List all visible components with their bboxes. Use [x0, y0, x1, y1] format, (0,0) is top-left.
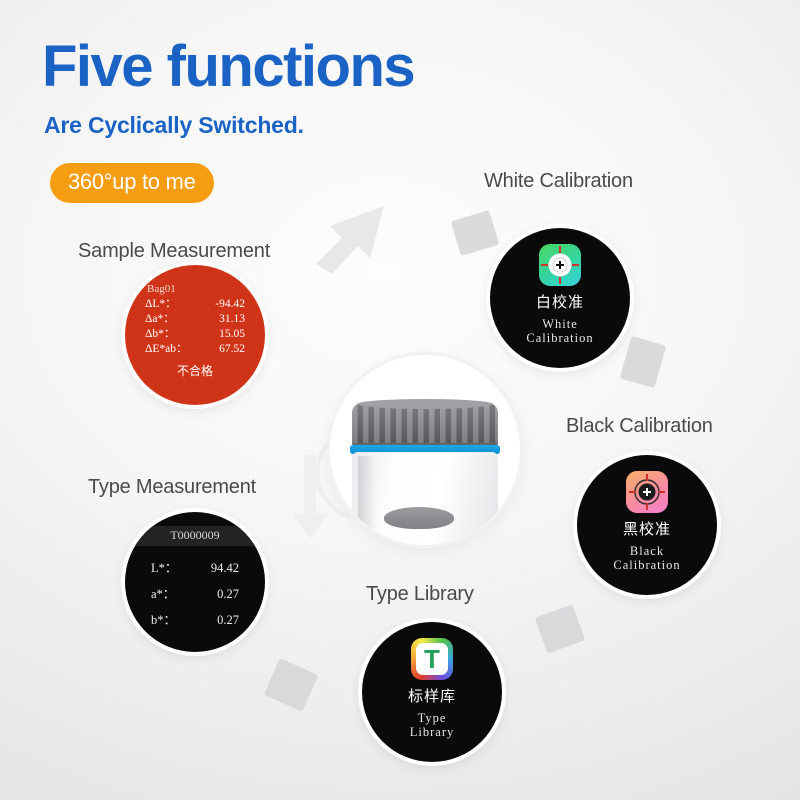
icon-label-en: White Calibration [526, 317, 593, 345]
row-key: Δb*： [145, 327, 175, 342]
screen-black-calibration[interactable]: 黑校准 Black Calibration [577, 455, 717, 595]
screen-white-calibration[interactable]: 白校准 White Calibration [490, 228, 630, 368]
label-black-calibration: Black Calibration [566, 415, 713, 438]
icon-label-cn: 白校准 [536, 295, 584, 310]
rotation-badge: 360°up to me [50, 163, 214, 203]
letter-t-icon: T [411, 638, 453, 680]
device-photo [330, 355, 520, 545]
table-row: b*： 0.27 [151, 607, 239, 633]
decorative-square [264, 658, 319, 712]
table-row: Δa*： 31.13 [145, 312, 245, 327]
infographic-canvas: Five functions Are Cyclically Switched. … [0, 0, 800, 800]
page-subtitle: Are Cyclically Switched. [44, 112, 304, 139]
row-value: 0.27 [217, 607, 239, 633]
row-key: ΔE*ab： [145, 342, 188, 357]
sample-name: Bag01 [147, 283, 176, 295]
label-white-calibration: White Calibration [484, 170, 633, 193]
screen-sample-measurement[interactable]: Bag01 ΔL*： -94.42 Δa*： 31.13 Δb*： 15.05 … [125, 265, 265, 405]
row-value: 94.42 [211, 555, 239, 581]
device-knob [352, 403, 498, 447]
device-aperture [384, 507, 454, 529]
letter-t-glyph: T [416, 643, 448, 675]
row-key: b*： [151, 607, 176, 633]
row-key: L*： [151, 555, 177, 581]
row-value: 0.27 [217, 581, 239, 607]
device-body [352, 452, 498, 545]
row-key: Δa*： [145, 312, 175, 327]
icon-label-cn: 黑校准 [623, 522, 671, 537]
label-type-library: Type Library [366, 583, 474, 606]
flow-arrow-icon [312, 192, 408, 278]
sample-values: ΔL*： -94.42 Δa*： 31.13 Δb*： 15.05 ΔE*ab：… [125, 297, 265, 357]
type-values: L*： 94.42 a*： 0.27 b*： 0.27 [125, 555, 265, 633]
table-row: L*： 94.42 [151, 555, 239, 581]
status-badge: 不合格 [177, 362, 213, 379]
table-row: ΔE*ab： 67.52 [145, 342, 245, 357]
row-value: 31.13 [219, 312, 245, 327]
crosshair-target-icon [539, 244, 581, 286]
row-key: a*： [151, 581, 175, 607]
page-title: Five functions [42, 38, 414, 96]
row-value: 15.05 [219, 327, 245, 342]
decorative-square [535, 604, 586, 653]
row-key: ΔL*： [145, 297, 177, 312]
row-value: -94.42 [215, 297, 245, 312]
sample-name: T0000009 [125, 526, 265, 546]
row-value: 67.52 [219, 342, 245, 357]
table-row: a*： 0.27 [151, 581, 239, 607]
icon-label-cn: 标样库 [408, 689, 456, 704]
table-row: ΔL*： -94.42 [145, 297, 245, 312]
screen-type-library[interactable]: T 标样库 Type Library [362, 622, 502, 762]
label-sample-measurement: Sample Measurement [78, 240, 270, 263]
crosshair-target-icon [626, 471, 668, 513]
screen-type-measurement[interactable]: T0000009 L*： 94.42 a*： 0.27 b*： 0.27 [125, 512, 265, 652]
table-row: Δb*： 15.05 [145, 327, 245, 342]
label-type-measurement: Type Measurement [88, 476, 256, 499]
icon-label-en: Black Calibration [613, 544, 680, 572]
icon-label-en: Type Library [410, 711, 454, 739]
